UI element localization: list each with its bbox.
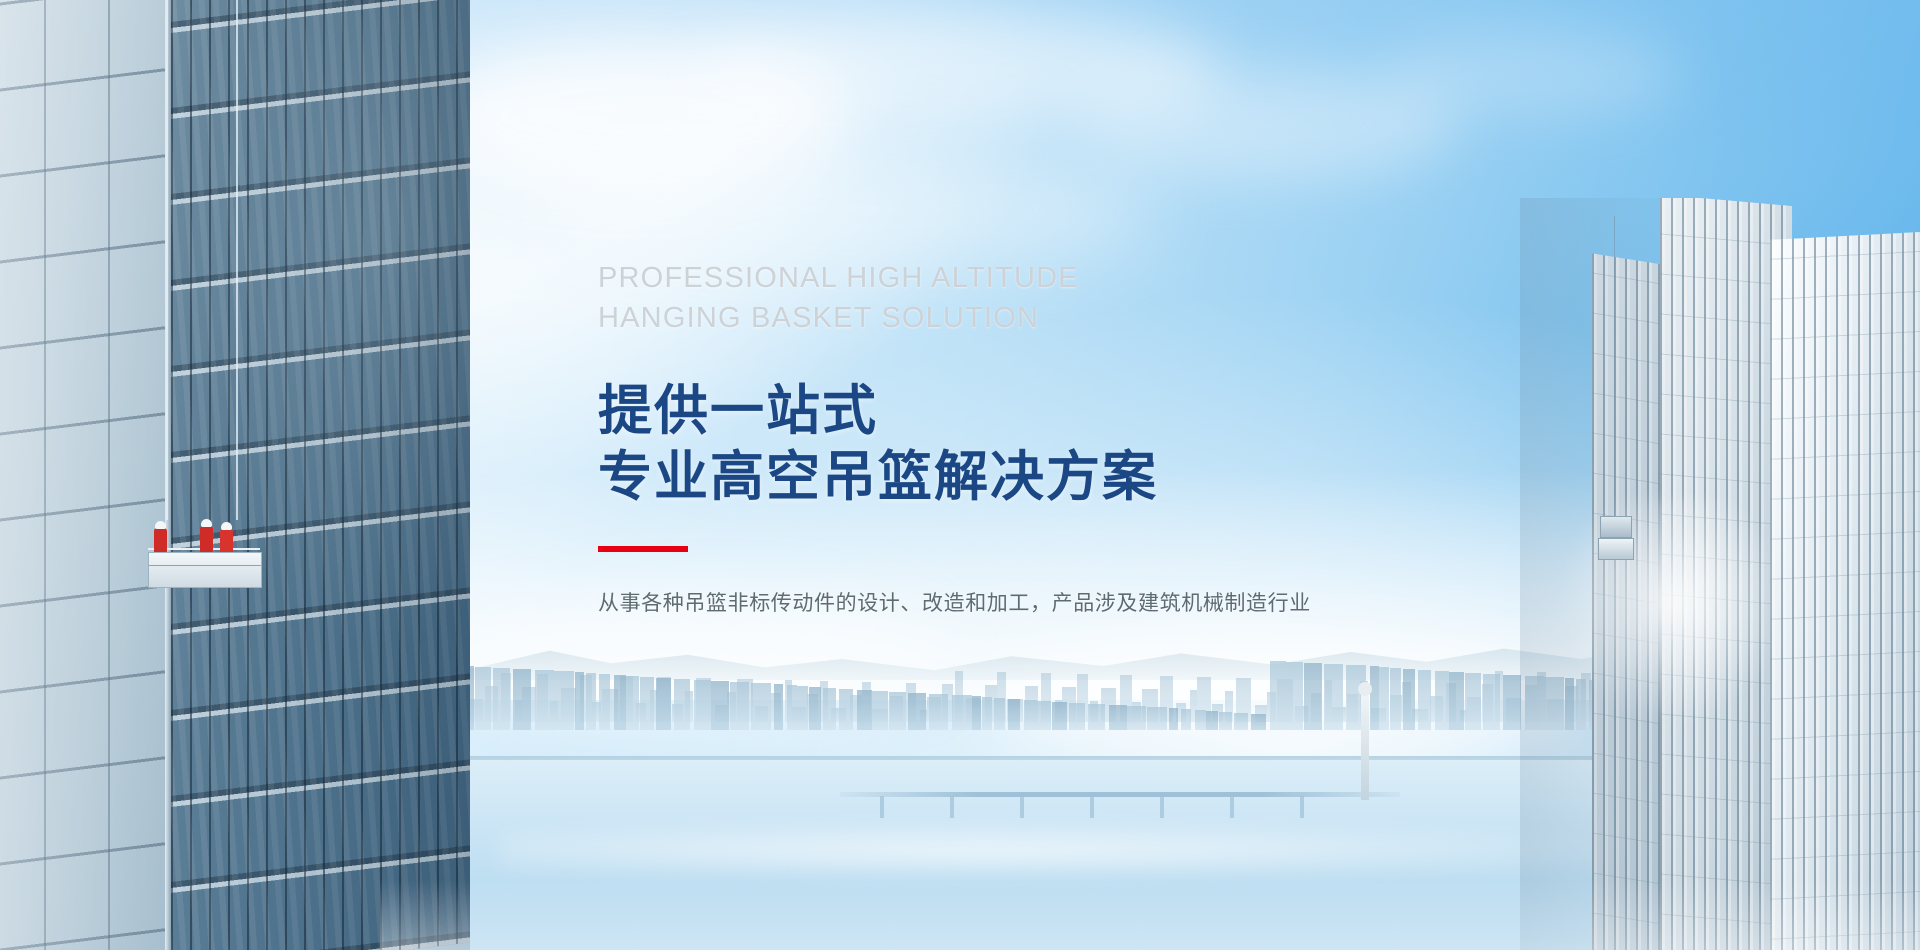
skyline-building [1403,669,1415,730]
suspension-rope [1614,216,1615,516]
skyline-building [656,678,671,730]
cloud [1380,30,1680,120]
skyline-building [1219,712,1232,730]
skyline-building [513,669,531,730]
skyline-building [1390,668,1401,730]
skyline-building [1206,711,1218,730]
skyline-building [1251,714,1266,730]
road-bridge [840,776,1400,832]
skyline-building [640,677,654,730]
skyline-building [1069,703,1085,730]
bridge-pier [1160,796,1164,818]
tower-shading [0,0,470,950]
antenna-top [1358,682,1372,696]
bridge-pier [1090,796,1094,818]
suspended-window-cleaning-platform [140,520,260,600]
skyline-building [694,680,711,730]
suspended-platform-right-tower [1598,516,1634,566]
skyline-building [626,676,639,730]
skyline-building [787,685,797,730]
skyline-building [1379,667,1389,730]
skyline-building [1024,700,1037,730]
skyline-building [809,687,821,730]
skyline-building [1483,674,1500,730]
bridge-pier [1300,796,1304,818]
skyline-building [857,690,872,730]
right-faceted-skyscraper [1520,198,1920,950]
skyline-building [1304,663,1322,730]
bridge-pier [1020,796,1024,818]
skyline-building [1503,675,1521,730]
skyline-building [1195,710,1206,730]
skyline-building [929,694,948,730]
skyline-building [774,684,783,730]
skyline-building [1147,707,1167,730]
skyline-building [952,695,972,730]
skyline-building [586,673,596,730]
antenna-mast [1361,690,1369,800]
skyline-building [1052,702,1067,730]
hero-subtitle: 从事各种吊篮非标传动件的设计、改造和加工，产品涉及建筑机械制造行业 [598,588,1498,620]
skyline-building [1181,709,1191,730]
worker [200,526,213,552]
skyline-building [711,681,729,730]
skyline-building [493,668,510,730]
platform-basket [148,552,262,588]
skyline-building [730,682,749,730]
skyline-building [972,696,981,730]
skyline-building [797,686,808,730]
skyline-building [908,693,926,730]
accent-divider [598,546,688,552]
skyline-building [614,675,626,730]
skyline-building [1449,672,1464,730]
skyline-building [994,698,1005,730]
cloud [560,150,1160,270]
skyline-building [1286,662,1303,730]
skyline-building [823,688,836,730]
skyline-building [1109,705,1127,730]
skyline-building [1169,708,1178,730]
skyline-building [475,667,491,730]
suspension-rope [236,0,238,520]
skyline-building [1418,670,1431,730]
skyline-building [674,679,690,730]
hero-banner: PROFESSIONAL HIGH ALTITUDE HANGING BASKE… [0,0,1920,950]
skyline-building [1234,713,1248,730]
bridge-deck [840,792,1400,797]
platform-basket [1600,516,1632,538]
skyline-building [889,692,906,730]
suspension-rope [166,0,168,520]
skyline-building [554,671,574,730]
bridge-pier [1230,796,1234,818]
platform-basket [1598,538,1634,560]
skyline-building [1088,704,1105,730]
bridge-pier [880,796,884,818]
skyline-building [1037,701,1051,730]
left-glass-skyscraper [0,0,470,950]
skyline-building [982,697,992,730]
skyline-building [1127,706,1146,730]
skyline-building [839,689,853,730]
tower-shading [1520,198,1920,950]
bridge-pier [950,796,954,818]
skyline-building [872,691,888,730]
skyline-building [1008,699,1020,730]
skyline-building [535,670,554,730]
hero-headline: 提供一站式 专业高空吊篮解决方案 [598,378,1498,510]
skyline-building [1324,664,1343,730]
worker [154,528,167,554]
skyline-building [751,683,771,730]
skyline-building [1465,673,1481,730]
skyline-building [1435,671,1449,730]
skyline-building [1270,661,1286,730]
skyline-building [599,674,610,730]
antenna-tower [1352,680,1378,800]
hero-eyebrow-english: PROFESSIONAL HIGH ALTITUDE HANGING BASKE… [598,258,1498,338]
hero-text-block: PROFESSIONAL HIGH ALTITUDE HANGING BASKE… [598,258,1498,620]
skyline-building [575,672,584,730]
